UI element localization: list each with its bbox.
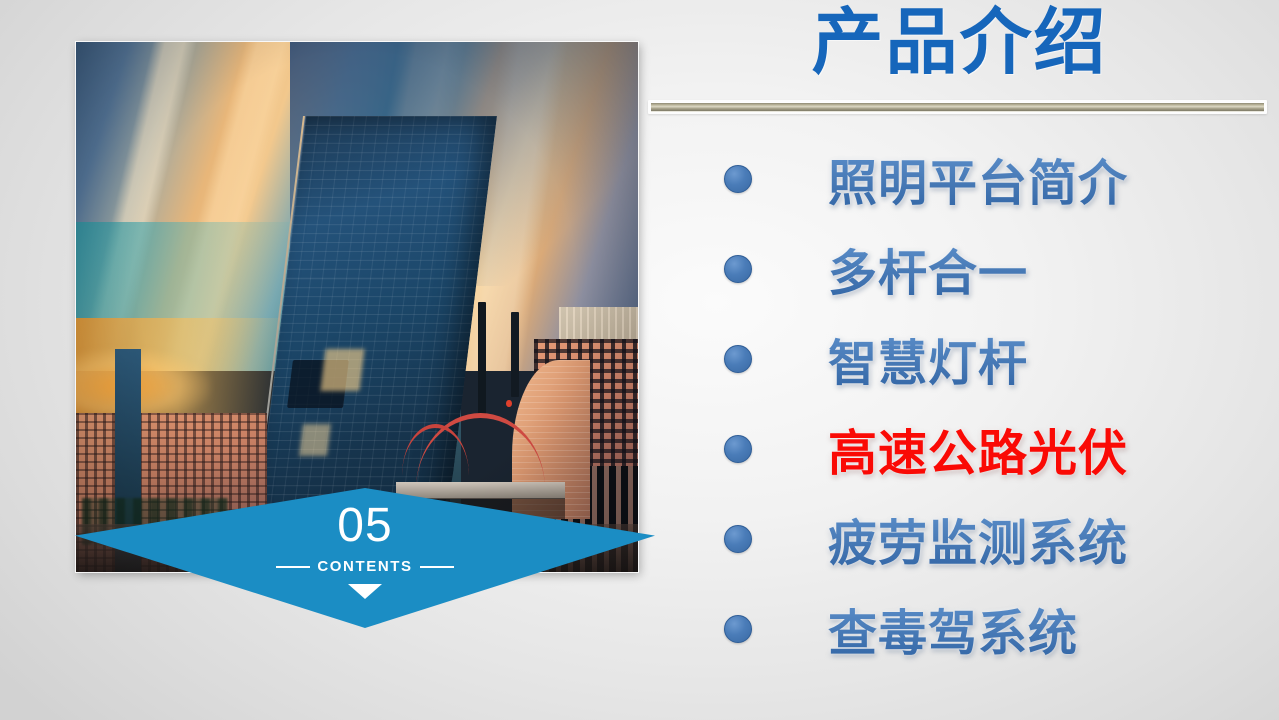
list-item-label: 疲劳监测系统 [828, 504, 1128, 575]
list-item[interactable]: 疲劳监测系统 [640, 494, 1279, 584]
list-item-label: 照明平台简介 [828, 144, 1128, 215]
bullet-icon [724, 255, 752, 283]
bullet-icon [724, 525, 752, 553]
bullet-icon [724, 615, 752, 643]
list-item[interactable]: 照明平台简介 [640, 134, 1279, 224]
list-item[interactable]: 多杆合一 [640, 224, 1279, 314]
list-item-highlighted[interactable]: 高速公路光伏 [640, 404, 1279, 494]
bullet-icon [724, 345, 752, 373]
title-divider-bar [651, 102, 1264, 112]
bullet-icon [724, 435, 752, 463]
content-panel: 产品介绍 照明平台简介 多杆合一 智慧灯杆 高速公路光伏 [640, 0, 1279, 720]
slide: 05 CONTENTS 产品介绍 照明平台简介 多杆合一 智慧灯杆 [0, 0, 1279, 720]
list-item-label: 高速公路光伏 [828, 414, 1128, 485]
list-item[interactable]: 智慧灯杆 [640, 314, 1279, 404]
topic-list: 照明平台简介 多杆合一 智慧灯杆 高速公路光伏 疲劳监测系统 查毒驾系统 [640, 134, 1279, 674]
bullet-icon [724, 165, 752, 193]
title-divider [648, 100, 1267, 114]
list-item-label: 查毒驾系统 [828, 594, 1078, 665]
list-item[interactable]: 查毒驾系统 [640, 584, 1279, 674]
list-item-label: 多杆合一 [828, 234, 1028, 305]
list-item-label: 智慧灯杆 [828, 324, 1028, 395]
page-title: 产品介绍 [640, 2, 1279, 83]
